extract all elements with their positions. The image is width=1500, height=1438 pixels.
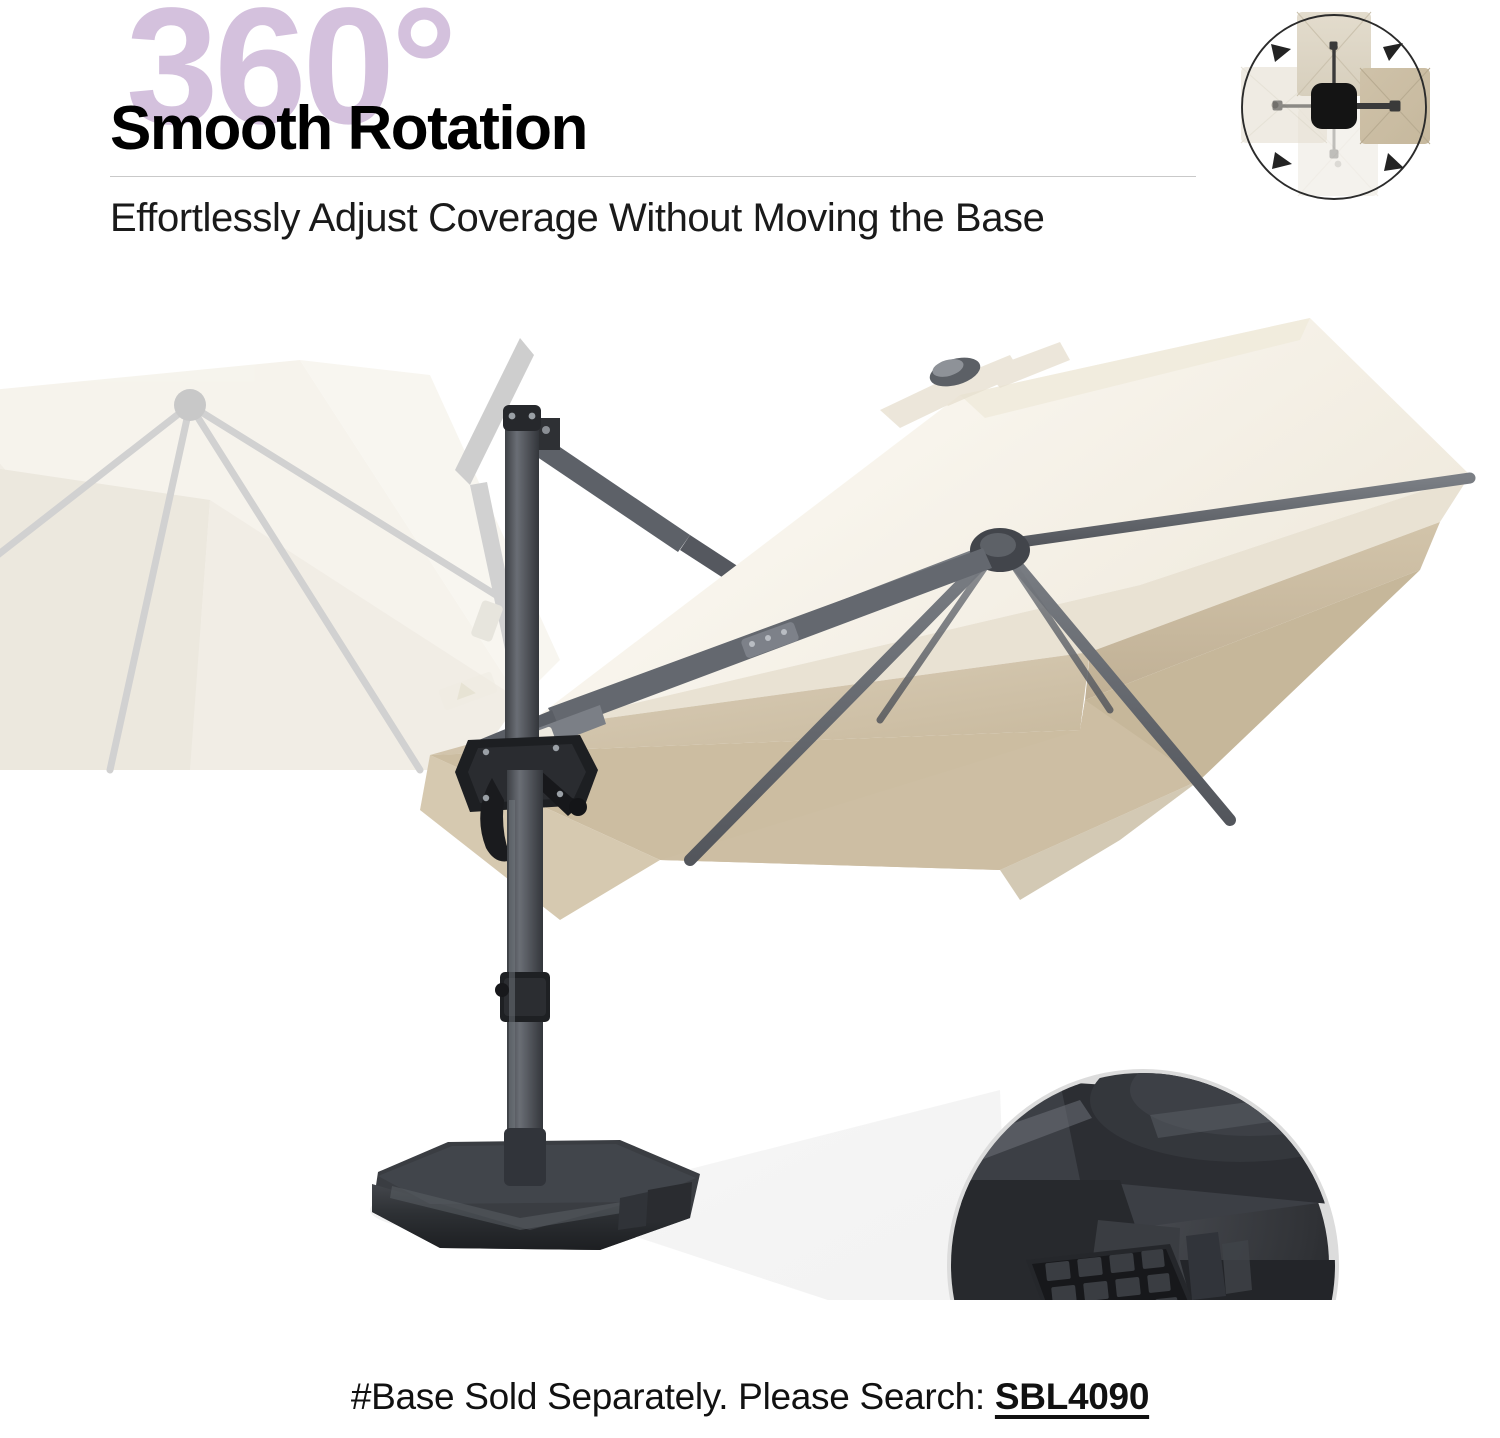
- header: 360° Smooth Rotation Effortlessly Adjust…: [0, 0, 1500, 300]
- detail-inset-circle: [947, 1038, 1390, 1300]
- page-subtitle: Effortlessly Adjust Coverage Without Mov…: [110, 195, 1045, 241]
- page-title: Smooth Rotation: [110, 98, 587, 160]
- product-feature-image: 360° Smooth Rotation Effortlessly Adjust…: [0, 0, 1500, 1438]
- footnote-sku: SBL4090: [995, 1376, 1149, 1417]
- pole-collar: [495, 972, 550, 1022]
- header-divider: [110, 176, 1196, 177]
- ghost-canopy-under-b: [0, 460, 210, 770]
- hero-illustration: [0, 300, 1500, 1300]
- footnote: #Base Sold Separately. Please Search: SB…: [0, 1376, 1500, 1418]
- footnote-prefix: #Base Sold Separately. Please Search:: [351, 1376, 995, 1417]
- ghost-hub: [174, 389, 206, 421]
- umbrella-pole-upper: [503, 405, 541, 750]
- icon-hub: [1311, 83, 1357, 129]
- rotation-diagram-icon: [1222, 4, 1490, 219]
- umbrella-base: [370, 1128, 700, 1250]
